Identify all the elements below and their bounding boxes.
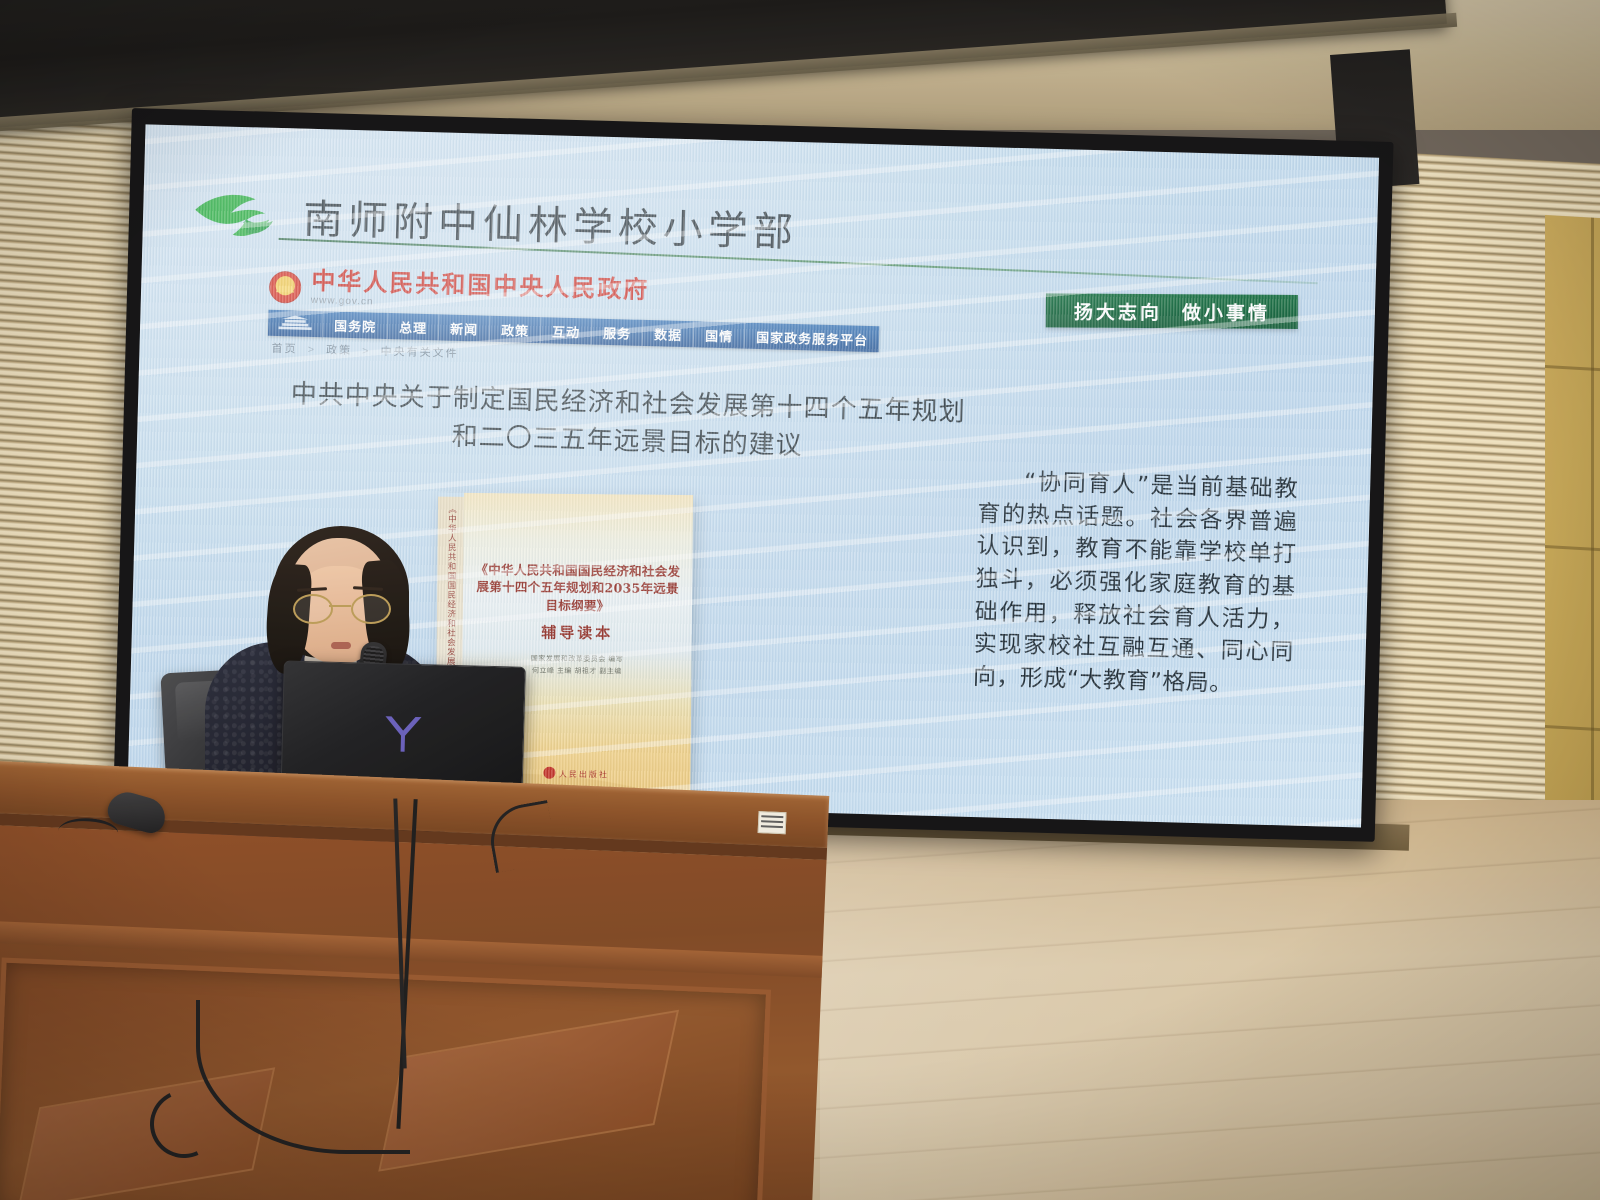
- national-emblem-icon: [269, 270, 302, 303]
- swallow-bird-icon: [192, 188, 279, 244]
- motto-part-1: 做小事情: [1182, 298, 1270, 326]
- glasses-bridge: [329, 605, 351, 607]
- breadcrumb-separator: >: [362, 345, 371, 357]
- nav-item-5[interactable]: 服务: [591, 319, 643, 346]
- breadcrumb-separator: >: [307, 344, 316, 356]
- nav-item-8[interactable]: 国家政务服务平台: [744, 323, 880, 353]
- slide-paragraph: “协同育人”是当前基础教育的热点话题。社会各界普遍认识到，教育不能靠学校单打独斗…: [972, 465, 1298, 702]
- floor-light-reflection: [820, 800, 1600, 1200]
- motto-part-0: 扬大志向: [1074, 297, 1162, 325]
- book-publisher-name: 人民出版社: [559, 770, 609, 779]
- glasses-lens-left: [293, 594, 333, 624]
- breadcrumb-item-1[interactable]: 政策: [326, 344, 352, 357]
- photo-scene: 南师附中仙林学校小学部 中华人民共和国中央人民政府 www.gov.cn: [0, 0, 1600, 1200]
- eyeglasses-icon: [289, 594, 393, 620]
- nav-item-2[interactable]: 新闻: [438, 314, 490, 341]
- page-title: 南师附中仙林学校小学部: [302, 187, 798, 258]
- nav-item-0[interactable]: 国务院: [322, 311, 388, 339]
- renmin-press-logo-icon: [543, 767, 555, 779]
- breadcrumb[interactable]: 首页 > 政策 > 中央有关文件: [271, 340, 458, 361]
- tiananmen-icon[interactable]: [268, 310, 323, 337]
- nav-item-4[interactable]: 互动: [540, 317, 592, 344]
- podium-asset-sticker: [758, 811, 787, 834]
- breadcrumb-item-2[interactable]: 中央有关文件: [380, 346, 458, 360]
- document-title: 中共中央关于制定国民经济和社会发展第十四个五年规划和二〇三五年远景目标的建议: [287, 376, 969, 470]
- book-subtitle: 辅导读本: [463, 621, 692, 644]
- nav-item-3[interactable]: 政策: [489, 316, 541, 343]
- school-motto-banner: 扬大志向 做小事情: [1046, 293, 1298, 329]
- legion-y-logo-icon: [381, 713, 426, 754]
- glasses-lens-right: [351, 594, 391, 624]
- presenter-mouth: [331, 642, 351, 649]
- lecture-hall-room: 南师附中仙林学校小学部 中华人民共和国中央人民政府 www.gov.cn: [0, 0, 1600, 1200]
- breadcrumb-item-0[interactable]: 首页: [271, 343, 297, 356]
- book-title: 《中华人民共和国国民经济和社会发展第十四个五年规划和2035年远景目标纲要》: [471, 561, 684, 615]
- nav-item-1[interactable]: 总理: [387, 313, 439, 340]
- nav-item-7[interactable]: 国情: [693, 321, 745, 348]
- nav-item-6[interactable]: 数据: [642, 320, 694, 347]
